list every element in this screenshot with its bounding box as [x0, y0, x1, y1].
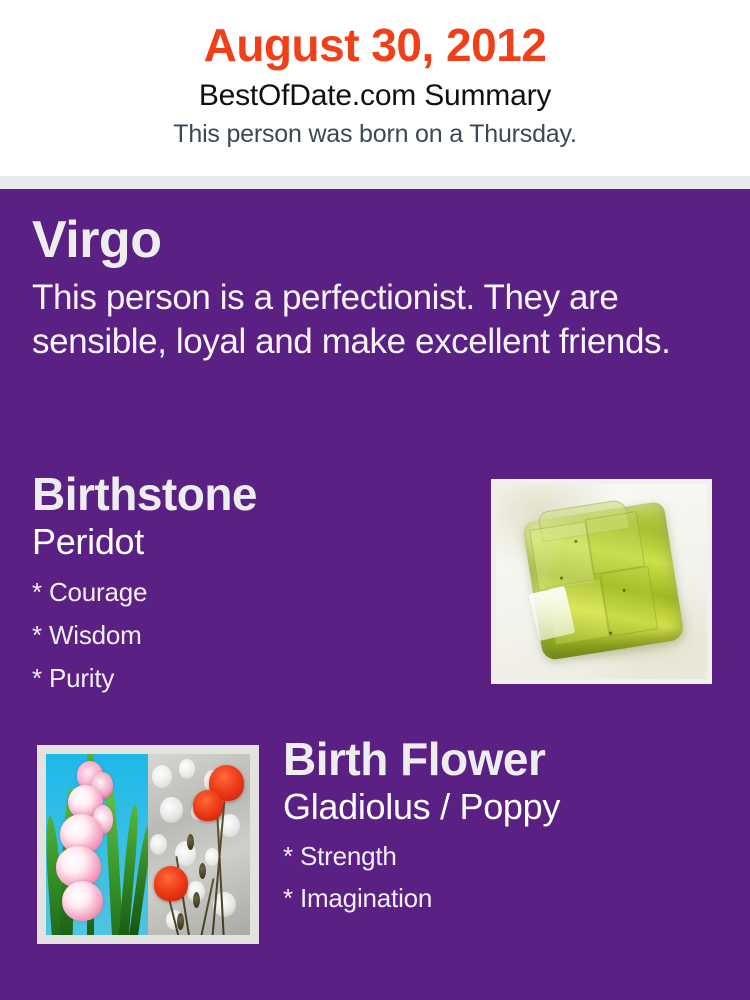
page-title: August 30, 2012: [0, 20, 750, 72]
birth-flower-traits: * Strength * Imagination: [283, 843, 723, 911]
poppy-bud: [177, 913, 184, 929]
zodiac-sign-name: Virgo: [32, 213, 692, 268]
birth-flower-section: Birth Flower Gladiolus / Poppy * Strengt…: [283, 735, 723, 911]
bokeh-light: [150, 834, 167, 856]
zodiac-description: This person is a perfectionist. They are…: [32, 276, 692, 364]
peridot-gemstone-image: [496, 484, 707, 679]
gem-facet: [585, 511, 645, 575]
poppy-flower: [154, 866, 188, 900]
birthstone-trait: * Wisdom: [32, 622, 472, 648]
poppy-bud: [199, 863, 206, 879]
site-summary-label: BestOfDate.com Summary: [0, 76, 750, 117]
gem-crystal: [522, 501, 686, 662]
gem-facet: [599, 566, 657, 637]
birth-flower-trait: * Strength: [283, 843, 723, 869]
bokeh-light: [160, 797, 182, 822]
birthstone-image-frame: [491, 479, 712, 684]
poppy-bud: [193, 892, 200, 908]
birthstone-name: Peridot: [32, 521, 472, 562]
birth-flower-name: Gladiolus / Poppy: [283, 786, 723, 827]
birth-flower-heading: Birth Flower: [283, 735, 723, 784]
birthstone-section: Birthstone Peridot * Courage * Wisdom * …: [32, 470, 472, 691]
summary-page: August 30, 2012 BestOfDate.com Summary T…: [0, 0, 750, 1000]
page-header: August 30, 2012 BestOfDate.com Summary T…: [0, 0, 750, 176]
birth-flower-trait: * Imagination: [283, 885, 723, 911]
birth-flower-image-frame: [37, 745, 259, 944]
poppy-flower: [193, 790, 224, 821]
birthstone-trait: * Courage: [32, 579, 472, 605]
bokeh-light: [152, 765, 172, 789]
gladiolus-and-poppy-image: [46, 754, 250, 935]
birthstone-heading: Birthstone: [32, 470, 472, 519]
poppy-photo-half: [148, 754, 250, 935]
poppy-bud: [187, 834, 194, 850]
birthstone-trait: * Purity: [32, 665, 472, 691]
born-day-text: This person was born on a Thursday.: [0, 118, 750, 152]
zodiac-section: Virgo This person is a perfectionist. Th…: [32, 213, 692, 364]
gladiolus-photo-half: [46, 754, 148, 935]
gladiolus-bloom: [62, 881, 103, 921]
bokeh-light: [179, 759, 195, 779]
header-divider: [0, 176, 750, 189]
